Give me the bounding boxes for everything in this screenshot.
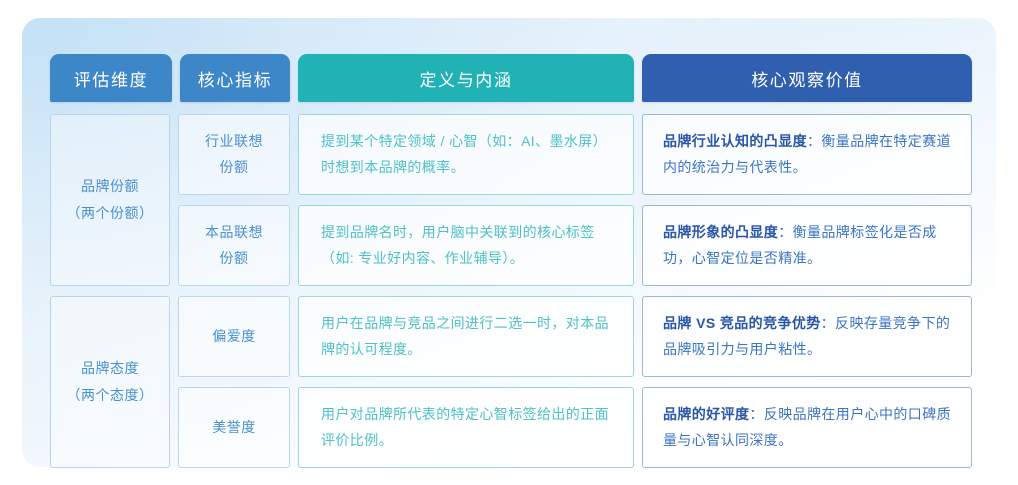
table-group: 品牌份额 （两个份额） 行业联想 份额 提到某个特定领域 / 心智（如：AI、墨… — [50, 114, 972, 286]
value-lead-text: 品牌形象的凸显度 — [663, 224, 778, 240]
dimension-cell: 品牌态度 （两个态度） — [50, 296, 170, 468]
dimension-label-line2: （两个态度） — [67, 382, 154, 409]
definition-cell: 提到品牌名时，用户脑中关联到的核心标签（如: 专业好内容、作业辅导）。 — [298, 205, 634, 286]
group-rows: 偏爱度 用户在品牌与竞品之间进行二选一时，对本品牌的认可程度。 品牌 VS 竞品… — [178, 296, 972, 468]
value-cell: 品牌 VS 竞品的竞争优势：反映存量竞争下的品牌吸引力与用户粘性。 — [642, 296, 972, 377]
value-lead-text: 品牌行业认知的凸显度 — [663, 133, 807, 149]
definition-cell: 用户对品牌所代表的特定心智标签给出的正面评价比例。 — [298, 387, 634, 468]
header-cell-metric: 核心指标 — [180, 54, 290, 102]
metric-label-line1: 偏爱度 — [212, 324, 256, 350]
table-row: 本品联想 份额 提到品牌名时，用户脑中关联到的核心标签（如: 专业好内容、作业辅… — [178, 205, 972, 286]
header-cell-dimension: 评估维度 — [50, 54, 172, 102]
metric-label-line1: 美誉度 — [212, 415, 256, 441]
metric-cell: 本品联想 份额 — [178, 205, 290, 286]
value-lead-text: 品牌 VS 竞品的竞争优势 — [663, 315, 821, 331]
metric-label-line2: 份额 — [205, 246, 263, 272]
dimension-label-line1: 品牌份额 — [67, 173, 154, 200]
metric-label-line1: 行业联想 — [205, 129, 263, 155]
table-row: 美誉度 用户对品牌所代表的特定心智标签给出的正面评价比例。 品牌的好评度：反映品… — [178, 387, 972, 468]
dimension-label-line2: （两个份额） — [67, 200, 154, 227]
value-cell: 品牌形象的凸显度：衡量品牌标签化是否成功，心智定位是否精准。 — [642, 205, 972, 286]
metric-label-line1: 本品联想 — [205, 220, 263, 246]
evaluation-framework-table: 评估维度 核心指标 定义与内涵 核心观察价值 品牌份额 （两个份额） 行业联想 … — [50, 54, 972, 468]
value-cell: 品牌行业认知的凸显度：衡量品牌在特定赛道内的统治力与代表性。 — [642, 114, 972, 195]
table-row: 偏爱度 用户在品牌与竞品之间进行二选一时，对本品牌的认可程度。 品牌 VS 竞品… — [178, 296, 972, 377]
header-cell-value: 核心观察价值 — [642, 54, 972, 102]
table-group: 品牌态度 （两个态度） 偏爱度 用户在品牌与竞品之间进行二选一时，对本品牌的认可… — [50, 296, 972, 468]
dimension-cell: 品牌份额 （两个份额） — [50, 114, 170, 286]
metric-cell: 美誉度 — [178, 387, 290, 468]
definition-cell: 提到某个特定领域 / 心智（如：AI、墨水屏）时想到本品牌的概率。 — [298, 114, 634, 195]
table-row: 行业联想 份额 提到某个特定领域 / 心智（如：AI、墨水屏）时想到本品牌的概率… — [178, 114, 972, 195]
metric-label-line2: 份额 — [205, 155, 263, 181]
group-rows: 行业联想 份额 提到某个特定领域 / 心智（如：AI、墨水屏）时想到本品牌的概率… — [178, 114, 972, 286]
metric-cell: 行业联想 份额 — [178, 114, 290, 195]
page-root: 评估维度 核心指标 定义与内涵 核心观察价值 品牌份额 （两个份额） 行业联想 … — [0, 0, 1018, 485]
value-lead-text: 品牌的好评度 — [663, 406, 749, 422]
value-cell: 品牌的好评度：反映品牌在用户心中的口碑质量与心智认同深度。 — [642, 387, 972, 468]
header-cell-definition: 定义与内涵 — [298, 54, 634, 102]
definition-cell: 用户在品牌与竞品之间进行二选一时，对本品牌的认可程度。 — [298, 296, 634, 377]
dimension-label-line1: 品牌态度 — [67, 355, 154, 382]
metric-cell: 偏爱度 — [178, 296, 290, 377]
table-header-row: 评估维度 核心指标 定义与内涵 核心观察价值 — [50, 54, 972, 102]
